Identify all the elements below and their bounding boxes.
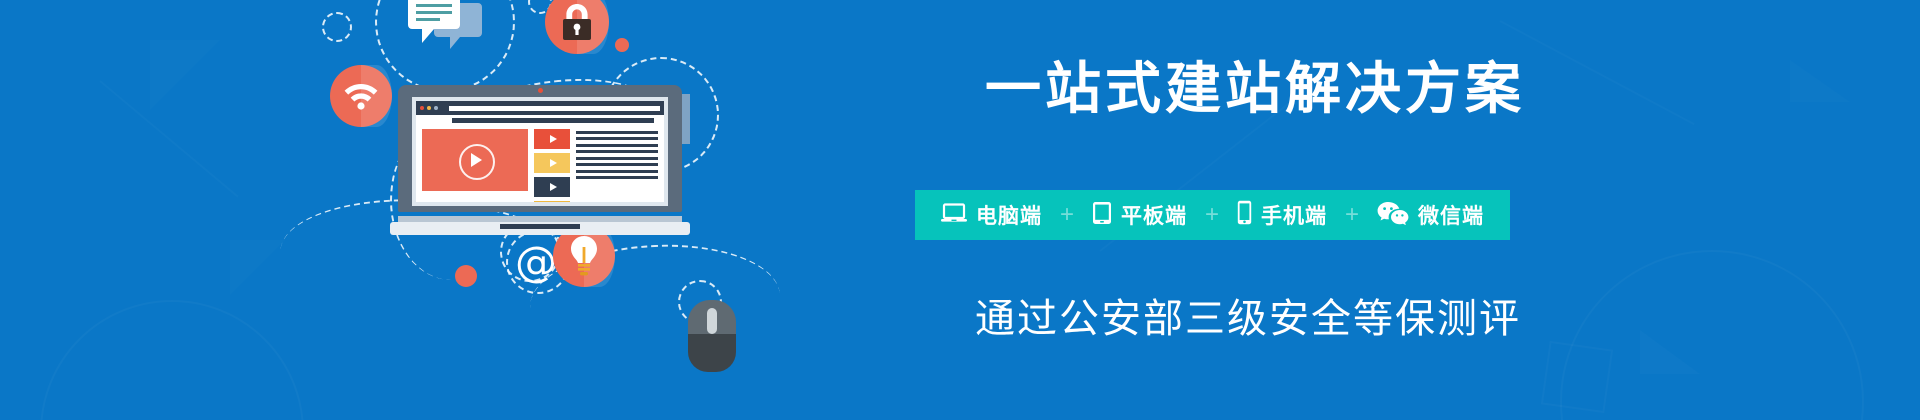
- video-thumbnail-column: [534, 129, 570, 202]
- banner-text-block: 一站式建站解决方案 电脑端 +: [915, 0, 1615, 420]
- hero-video-thumbnail: [422, 129, 528, 191]
- text-line: [576, 157, 658, 160]
- window-minimize-dot: [427, 106, 431, 110]
- laptop-lid: [398, 85, 682, 212]
- play-triangle-icon: [471, 153, 482, 167]
- tag-label-tablet: 平板端: [1121, 200, 1187, 230]
- watermark-triangle: [1790, 60, 1850, 102]
- laptop-device: [390, 85, 690, 235]
- video-thumbnail: [534, 129, 570, 149]
- accent-dot: [455, 265, 477, 287]
- subtitle: 通过公安部三级安全等保测评: [975, 286, 1521, 344]
- text-line: [576, 144, 658, 147]
- tag-separator: +: [1337, 203, 1367, 227]
- tag-tablet[interactable]: 平板端: [1082, 200, 1197, 230]
- tag-separator: +: [1052, 203, 1082, 227]
- watermark-line: [99, 80, 238, 197]
- mouse-icon: [688, 300, 736, 372]
- accent-dot: [615, 38, 629, 52]
- window-maximize-dot: [434, 106, 438, 110]
- laptop-icon: [941, 203, 967, 228]
- tag-label-desktop: 电脑端: [976, 200, 1042, 230]
- text-line-group: [576, 131, 658, 140]
- text-line-group: [576, 170, 658, 179]
- headline: 一站式建站解决方案: [985, 62, 1525, 118]
- watermark-triangle: [1640, 330, 1700, 374]
- laptop-trackpad-notch: [500, 224, 580, 229]
- play-triangle-icon: [550, 135, 557, 143]
- promo-banner: $ @: [0, 0, 1920, 420]
- watermark-triangle: [150, 40, 220, 110]
- text-line: [576, 176, 658, 179]
- tag-label-wechat: 微信端: [1418, 200, 1484, 230]
- play-triangle-icon: [550, 159, 557, 167]
- laptop-screen: [412, 97, 668, 206]
- tablet-icon: [1092, 201, 1112, 230]
- tag-phone[interactable]: 手机端: [1227, 200, 1337, 230]
- watermark-ring: [40, 300, 304, 420]
- video-thumbnail: [534, 201, 570, 202]
- text-line-group: [576, 144, 658, 153]
- tag-label-phone: 手机端: [1261, 200, 1327, 230]
- at-sign-icon: @: [513, 240, 559, 291]
- play-triangle-icon: [550, 183, 557, 191]
- browser-address-bar: [449, 106, 660, 111]
- window-close-dot: [420, 106, 424, 110]
- wifi-icon: [330, 65, 392, 127]
- browser-chrome: [416, 101, 664, 115]
- page-content-row: [416, 123, 664, 202]
- mouse-bottom-shell: [688, 334, 736, 372]
- text-line: [576, 170, 658, 173]
- text-line: [576, 163, 658, 166]
- chat-bubbles-icon: [408, 0, 484, 62]
- wechat-icon: [1377, 201, 1409, 230]
- text-line-group: [576, 157, 658, 166]
- dashed-circle-node: [322, 12, 352, 42]
- tag-desktop[interactable]: 电脑端: [931, 200, 1052, 230]
- device-tag-bar: 电脑端 + 平板端 +: [915, 190, 1510, 240]
- browser-window: [416, 101, 664, 202]
- text-line: [576, 150, 658, 153]
- text-line-column: [576, 129, 658, 202]
- laptop-base: [390, 222, 690, 235]
- laptop-illustration: $ @: [300, 0, 920, 420]
- text-line: [576, 137, 658, 140]
- tag-wechat[interactable]: 微信端: [1367, 200, 1494, 230]
- phone-icon: [1237, 200, 1252, 230]
- video-thumbnail: [534, 177, 570, 197]
- tag-separator: +: [1197, 203, 1227, 227]
- svg-text:@: @: [515, 240, 557, 286]
- video-thumbnail: [534, 153, 570, 173]
- laptop-camera-dot: [538, 88, 543, 93]
- mouse-scroll-wheel: [707, 308, 717, 334]
- lock-icon: [545, 0, 609, 54]
- watermark-triangle: [230, 240, 285, 295]
- text-line: [576, 131, 658, 134]
